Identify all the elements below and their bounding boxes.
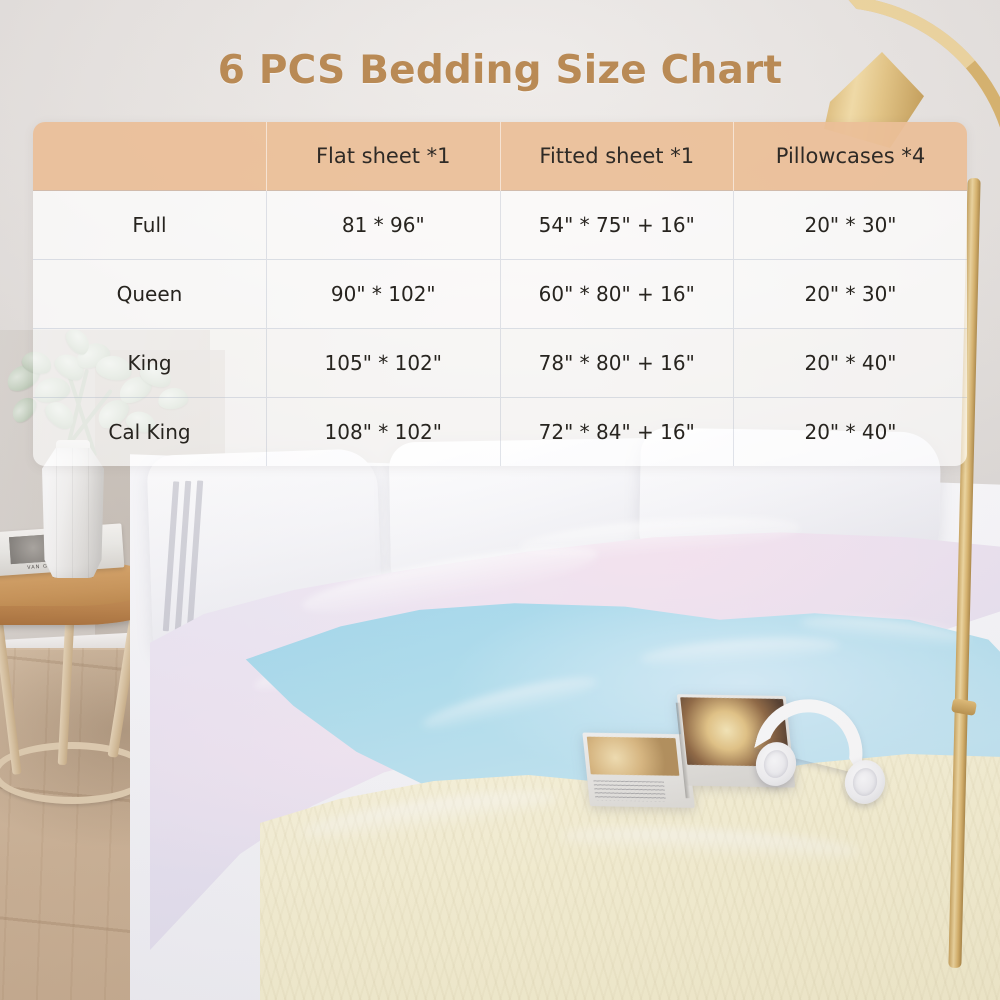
table-header-row: Flat sheet *1 Fitted sheet *1 Pillowcase… (33, 122, 967, 191)
cell-fitted-sheet: 54" * 75" + 16" (500, 191, 734, 260)
cell-fitted-sheet: 72" * 84" + 16" (500, 398, 734, 467)
header-cell-size (33, 122, 267, 191)
page-title: 6 PCS Bedding Size Chart (0, 48, 1000, 93)
cell-flat-sheet: 90" * 102" (267, 260, 501, 329)
table-row: Cal King 108" * 102" 72" * 84" + 16" 20"… (33, 398, 967, 467)
header-cell-fitted-sheet: Fitted sheet *1 (500, 122, 734, 191)
cell-fitted-sheet: 60" * 80" + 16" (500, 260, 734, 329)
cell-size: King (33, 329, 267, 398)
cell-size: Full (33, 191, 267, 260)
cell-flat-sheet: 81 * 96" (267, 191, 501, 260)
vase-facet (88, 448, 89, 578)
header-cell-pillowcases: Pillowcases *4 (734, 122, 968, 191)
magazine-body-text (593, 780, 666, 801)
cell-pillowcases: 20" * 30" (734, 191, 968, 260)
cell-flat-sheet: 105" * 102" (267, 329, 501, 398)
ceramic-vase (42, 448, 104, 578)
magazine-food-photo (587, 737, 680, 776)
table-row: Full 81 * 96" 54" * 75" + 16" 20" * 30" (33, 191, 967, 260)
product-size-chart-image: VAN GOGH VAN GOGH (0, 0, 1000, 1000)
table-row: Queen 90" * 102" 60" * 80" + 16" 20" * 3… (33, 260, 967, 329)
vase-facet (72, 448, 73, 578)
bedding-size-chart-table: Flat sheet *1 Fitted sheet *1 Pillowcase… (33, 122, 967, 466)
cell-flat-sheet: 108" * 102" (267, 398, 501, 467)
cell-pillowcases: 20" * 30" (734, 260, 968, 329)
cell-pillowcases: 20" * 40" (734, 329, 968, 398)
headphones-earcup-pad (850, 766, 879, 798)
header-cell-flat-sheet: Flat sheet *1 (267, 122, 501, 191)
headphones-earcup-pad (761, 748, 790, 780)
cell-size: Queen (33, 260, 267, 329)
cell-fitted-sheet: 78" * 80" + 16" (500, 329, 734, 398)
table-row: King 105" * 102" 78" * 80" + 16" 20" * 4… (33, 329, 967, 398)
cell-pillowcases: 20" * 40" (734, 398, 968, 467)
vase-facet (56, 448, 57, 578)
cell-size: Cal King (33, 398, 267, 467)
magazine-left-page (582, 732, 695, 807)
